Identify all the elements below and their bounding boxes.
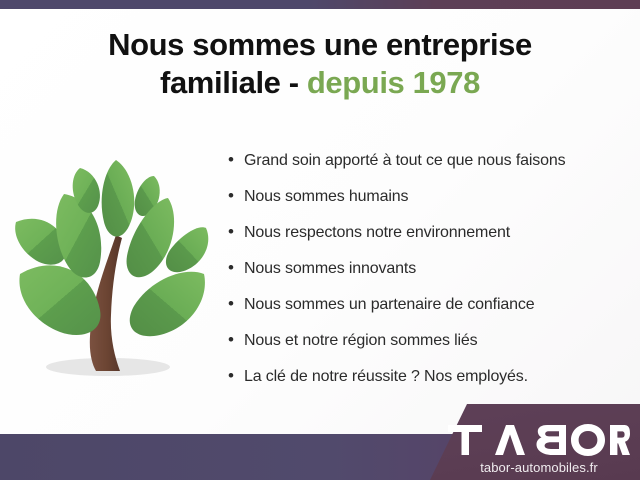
bullet-icon: •: [228, 330, 244, 350]
list-item-label: Nous sommes un partenaire de confiance: [244, 294, 534, 316]
bullet-icon: •: [228, 258, 244, 278]
list-item: • Nous et notre région sommes liés: [228, 330, 628, 366]
headline-line-1: Nous sommes une entreprise: [108, 27, 532, 62]
list-item: • Grand soin apporté à tout ce que nous …: [228, 150, 628, 186]
list-item: • Nous sommes innovants: [228, 258, 628, 294]
list-item: • Nous sommes un partenaire de confiance: [228, 294, 628, 330]
headline-line-2: familiale - depuis 1978: [0, 64, 640, 102]
list-item-label: Nous sommes innovants: [244, 258, 416, 280]
bullet-icon: •: [228, 186, 244, 206]
bullet-icon: •: [228, 294, 244, 314]
list-item-label: Nous et notre région sommes liés: [244, 330, 478, 352]
bullet-icon: •: [228, 150, 244, 170]
list-item: • Nous respectons notre environnement: [228, 222, 628, 258]
list-item-label: La clé de notre réussite ? Nos employés.: [244, 366, 528, 388]
brand-logo: tabor-automobiles.fr: [448, 422, 630, 476]
tree-leaf-center-top: [102, 160, 135, 237]
list-item: • Nous sommes humains: [228, 186, 628, 222]
benefits-list: • Grand soin apporté à tout ce que nous …: [228, 150, 628, 402]
tree-leaf-lower-right: [130, 272, 205, 336]
page-title: Nous sommes une entreprise familiale - d…: [0, 26, 640, 102]
tree-illustration: [8, 150, 220, 390]
headline-accent-depuis: depuis 1978: [307, 65, 480, 100]
headline-line-2-black: familiale -: [160, 65, 299, 100]
bullet-icon: •: [228, 222, 244, 242]
bullet-icon: •: [228, 366, 244, 386]
footer-left-bar: [0, 434, 470, 480]
list-item-label: Nous respectons notre environnement: [244, 222, 510, 244]
brand-url: tabor-automobiles.fr: [448, 459, 630, 476]
list-item: • La clé de notre réussite ? Nos employé…: [228, 366, 628, 402]
tabor-wordmark-icon: [448, 422, 630, 458]
tree-icon: [8, 150, 220, 390]
slide-canvas: Nous sommes une entreprise familiale - d…: [0, 0, 640, 480]
top-accent-bar: [0, 0, 640, 9]
list-item-label: Grand soin apporté à tout ce que nous fa…: [244, 150, 565, 172]
list-item-label: Nous sommes humains: [244, 186, 408, 208]
